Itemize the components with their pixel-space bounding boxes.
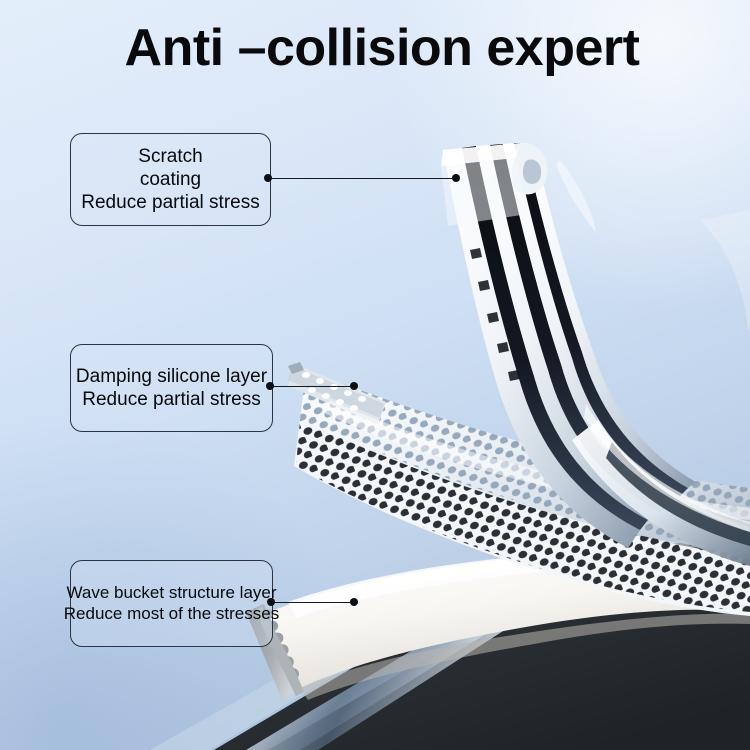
leader-dot-target-scratch-coating xyxy=(452,174,460,182)
callout-line-1: Damping silicone layer xyxy=(76,365,267,388)
leader-dot-box-scratch-coating xyxy=(264,174,272,182)
leader-dot-target-damping-silicone xyxy=(350,382,358,390)
leader-line-wave-bucket xyxy=(271,602,356,603)
product-infographic: Anti –collision expert Scratch coating R… xyxy=(0,0,750,750)
callout-line-2: Reduce most of the stresses xyxy=(64,604,279,625)
leader-line-damping-silicone xyxy=(270,386,356,387)
callout-wave-bucket[interactable]: Wave bucket structure layer Reduce most … xyxy=(70,560,273,647)
callout-line-2: Reduce partial stress xyxy=(76,388,267,411)
leader-line-scratch-coating xyxy=(268,178,458,179)
leader-dot-target-wave-bucket xyxy=(350,598,358,606)
leader-dot-box-damping-silicone xyxy=(266,382,274,390)
callout-damping-silicone[interactable]: Damping silicone layer Reduce partial st… xyxy=(70,344,273,432)
callout-line-3: Reduce partial stress xyxy=(81,191,259,214)
callout-line-2: coating xyxy=(81,168,259,191)
callout-scratch-coating[interactable]: Scratch coating Reduce partial stress xyxy=(70,133,271,226)
callout-line-1: Scratch xyxy=(81,145,259,168)
page-title: Anti –collision expert xyxy=(0,18,750,78)
callout-line-1: Wave bucket structure layer xyxy=(64,583,279,604)
leader-dot-box-wave-bucket xyxy=(267,598,275,606)
